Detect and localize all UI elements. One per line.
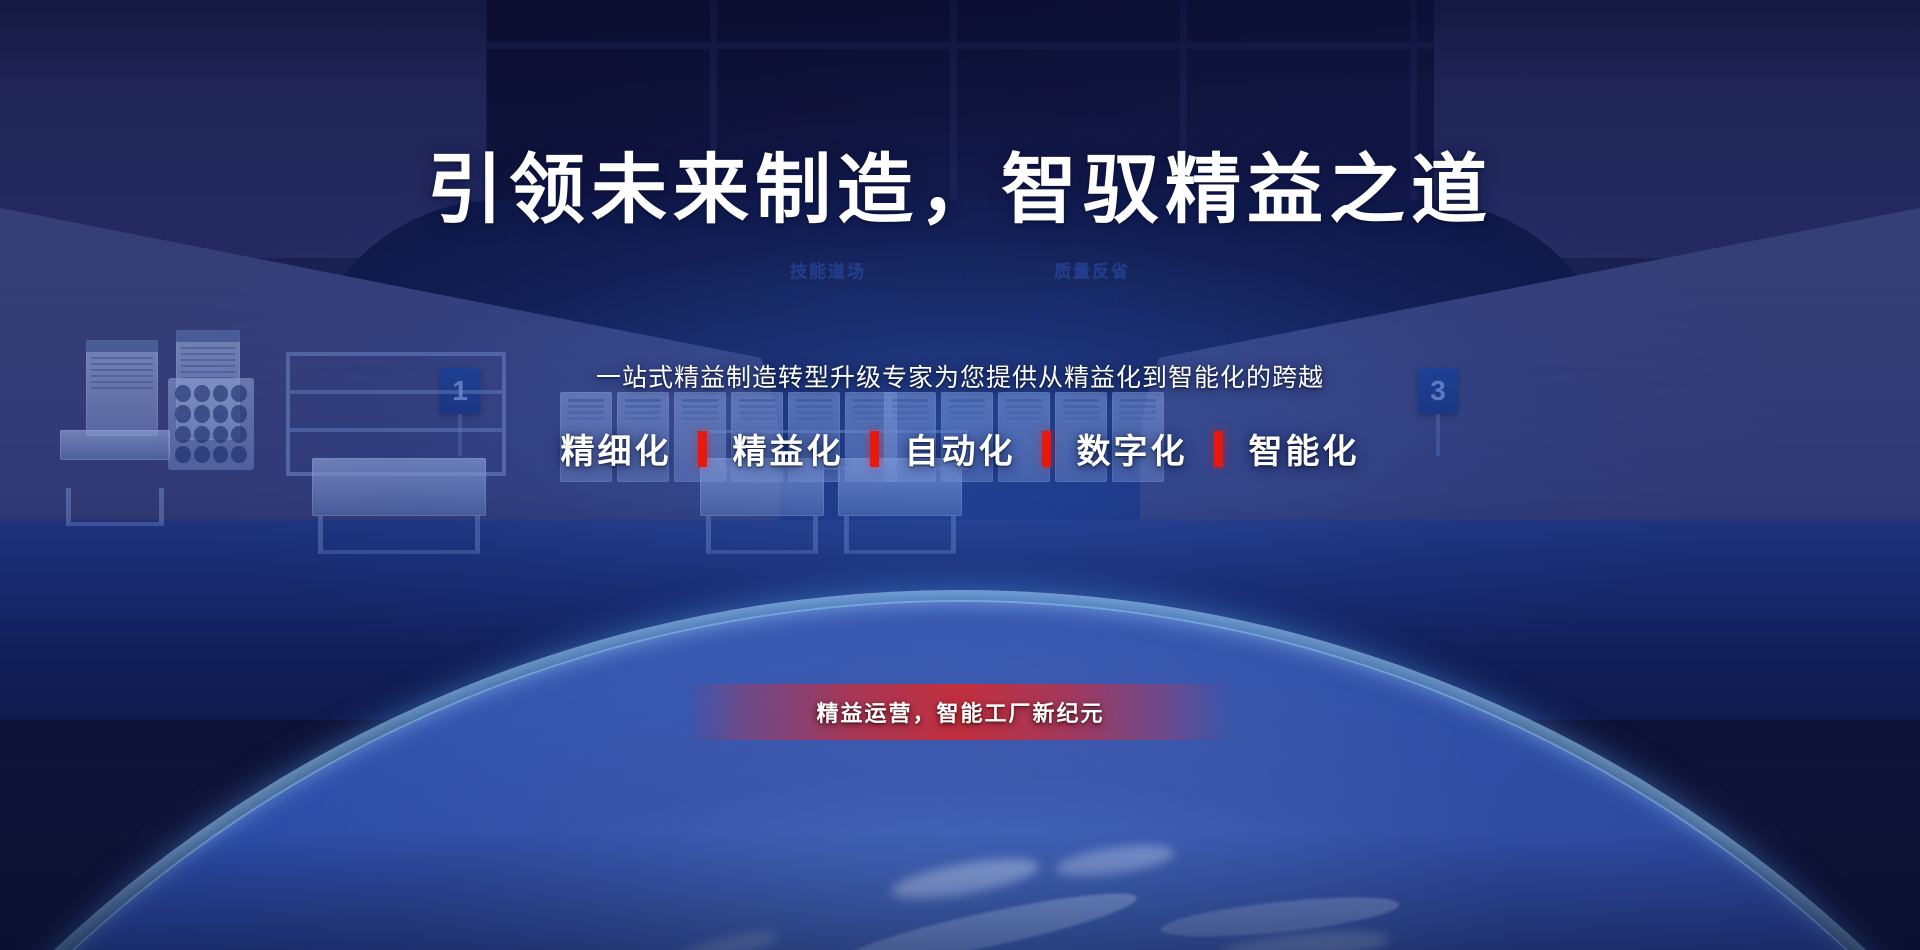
- keyword-item: 数字化: [1061, 424, 1204, 473]
- keyword-separator-icon: [698, 431, 707, 467]
- keyword-separator-icon: [870, 431, 879, 467]
- keyword-separator-icon: [1042, 431, 1051, 467]
- hero-content: 引领未来制造，智驭精益之道 一站式精益制造转型升级专家为您提供从精益化到智能化的…: [0, 0, 1920, 950]
- tagline-text: 精益运营，智能工厂新纪元: [816, 696, 1104, 728]
- keyword-list: 精细化 精益化 自动化 数字化 智能化: [0, 424, 1920, 473]
- hero-subtitle: 一站式精益制造转型升级专家为您提供从精益化到智能化的跨越: [0, 358, 1920, 394]
- keyword-item: 精益化: [717, 424, 860, 473]
- hero-banner: 技能道场 SKILL DOJO 质量反省 QUALITY REFLECTION …: [0, 0, 1920, 950]
- keyword-item: 自动化: [889, 424, 1032, 473]
- keyword-separator-icon: [1214, 431, 1223, 467]
- keyword-item: 智能化: [1233, 424, 1376, 473]
- tagline-ribbon: 精益运营，智能工厂新纪元: [688, 684, 1233, 740]
- page-title: 引领未来制造，智驭精益之道: [0, 128, 1920, 238]
- keyword-item: 精细化: [545, 424, 688, 473]
